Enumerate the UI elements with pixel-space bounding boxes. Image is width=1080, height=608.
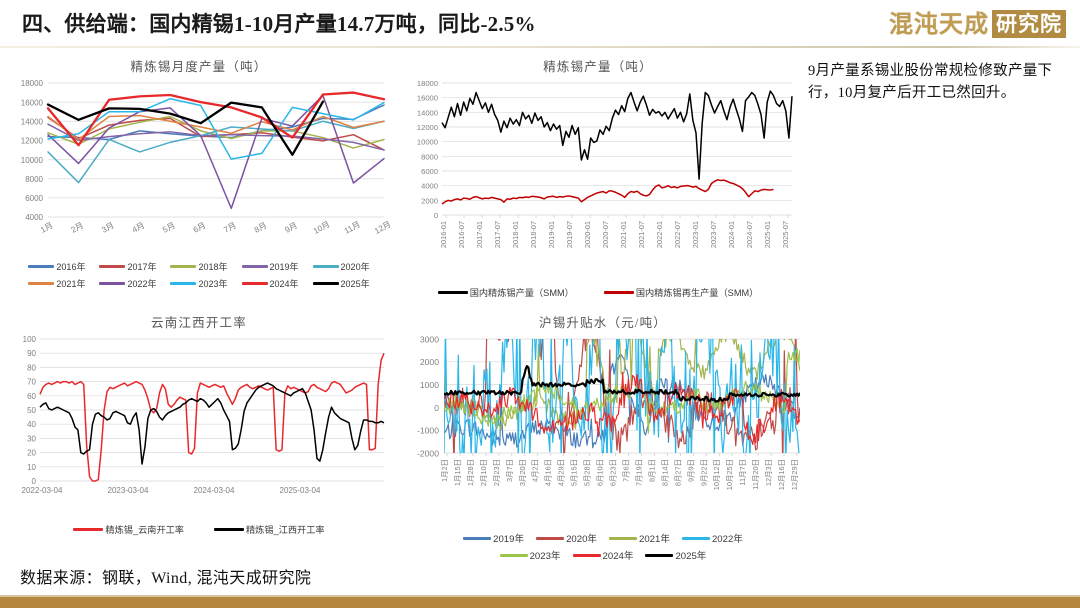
svg-text:70: 70 <box>27 378 36 387</box>
legend-label: 2023年 <box>530 548 561 562</box>
svg-text:10月25日: 10月25日 <box>725 459 734 490</box>
svg-text:12月: 12月 <box>373 220 390 236</box>
svg-text:10000: 10000 <box>417 138 438 147</box>
legend-label: 2022年 <box>712 531 743 545</box>
legend-item[interactable]: 国内精炼锡再生产量（SMM） <box>604 285 759 299</box>
svg-text:2018-07: 2018-07 <box>529 221 538 248</box>
svg-text:16000: 16000 <box>21 98 44 107</box>
svg-text:18000: 18000 <box>417 79 438 88</box>
svg-text:2019-07: 2019-07 <box>565 221 574 248</box>
chart-plot-area: -2000-100001000200030001月2日1月15日1月28日2月1… <box>398 331 808 529</box>
commentary-note: 9月产量系锡业股份常规检修致产量下行，10月复产后开工已然回升。 <box>808 60 1066 105</box>
svg-text:2019-01: 2019-01 <box>547 221 556 248</box>
legend-swatch-icon <box>313 282 339 285</box>
svg-text:2021-01: 2021-01 <box>619 221 628 248</box>
svg-text:2016-07: 2016-07 <box>457 221 466 248</box>
legend-label: 2025年 <box>675 548 706 562</box>
svg-text:2017-07: 2017-07 <box>493 221 502 248</box>
svg-text:2000: 2000 <box>421 196 438 205</box>
legend-label: 2019年 <box>493 531 524 545</box>
legend-swatch-icon <box>500 554 528 557</box>
svg-text:10: 10 <box>27 463 36 472</box>
legend-item[interactable]: 精炼锡_云南开工率 <box>73 522 184 536</box>
svg-text:10月: 10月 <box>312 220 331 236</box>
legend-swatch-icon <box>573 554 601 557</box>
legend-item[interactable]: 2025年 <box>313 277 370 290</box>
svg-text:1月28日: 1月28日 <box>466 459 475 486</box>
svg-text:2月: 2月 <box>70 221 85 235</box>
svg-text:12000: 12000 <box>21 137 44 146</box>
legend-swatch-icon <box>170 282 196 285</box>
legend-item[interactable]: 2019年 <box>242 260 299 273</box>
svg-text:7月19日: 7月19日 <box>634 459 643 486</box>
legend-label: 2024年 <box>270 277 299 290</box>
svg-text:3月7日: 3月7日 <box>505 459 514 482</box>
svg-text:2023-01: 2023-01 <box>691 221 700 248</box>
svg-text:18000: 18000 <box>21 79 44 88</box>
legend-item[interactable]: 2020年 <box>313 260 370 273</box>
svg-text:9月: 9月 <box>283 221 298 235</box>
chart-panel-monthly-output: 精炼锡月度产量（吨） 40006000800010000120001400016… <box>8 56 390 290</box>
legend-item[interactable]: 2022年 <box>99 277 156 290</box>
svg-text:2025-03-04: 2025-03-04 <box>280 486 321 495</box>
svg-text:5月: 5月 <box>161 221 176 235</box>
chart-title: 精炼锡月度产量（吨） <box>8 56 390 75</box>
svg-text:8月: 8月 <box>253 221 268 235</box>
legend-item[interactable]: 国内精炼锡产量（SMM） <box>438 285 574 299</box>
svg-text:7月: 7月 <box>222 221 237 235</box>
svg-text:2016-01: 2016-01 <box>439 221 448 248</box>
svg-text:2月10日: 2月10日 <box>479 459 488 486</box>
svg-text:12月29日: 12月29日 <box>790 459 799 490</box>
svg-text:2024-03-04: 2024-03-04 <box>194 486 235 495</box>
svg-text:100: 100 <box>23 335 37 344</box>
legend-swatch-icon <box>536 537 564 540</box>
premium-discount-svg: -2000-100001000200030001月2日1月15日1月28日2月1… <box>398 331 808 529</box>
legend-label: 精炼锡_云南开工率 <box>105 522 184 536</box>
legend-item[interactable]: 2017年 <box>99 260 156 273</box>
chart-legend: 2016年2017年2018年2019年2020年2021年2022年2023年… <box>8 260 390 290</box>
legend-label: 2019年 <box>270 260 299 273</box>
svg-text:2024-07: 2024-07 <box>745 221 754 248</box>
svg-text:-2000: -2000 <box>417 448 439 458</box>
logo-wordmark: 混沌天成 <box>889 12 989 36</box>
svg-text:16000: 16000 <box>417 94 438 103</box>
svg-text:7月6日: 7月6日 <box>621 459 630 482</box>
chart-plot-area: 40006000800010000120001400016000180001月2… <box>8 75 390 255</box>
svg-text:4月29日: 4月29日 <box>557 459 566 486</box>
svg-text:0: 0 <box>434 211 438 220</box>
svg-text:8月1日: 8月1日 <box>647 459 656 482</box>
legend-label: 2018年 <box>198 260 227 273</box>
legend-swatch-icon <box>242 265 268 268</box>
legend-swatch-icon <box>99 265 125 268</box>
svg-text:8000: 8000 <box>25 175 43 184</box>
legend-label: 2020年 <box>566 531 597 545</box>
svg-text:2023-07: 2023-07 <box>709 221 718 248</box>
chart-legend: 精炼锡_云南开工率精炼锡_江西开工率 <box>8 522 390 536</box>
svg-text:2017-01: 2017-01 <box>475 221 484 248</box>
chart-title: 沪锡升贴水（元/吨） <box>398 312 808 331</box>
legend-swatch-icon <box>609 537 637 540</box>
svg-text:2020-07: 2020-07 <box>601 221 610 248</box>
svg-text:2020-01: 2020-01 <box>583 221 592 248</box>
svg-text:9月9日: 9月9日 <box>686 459 695 482</box>
svg-text:3月: 3月 <box>100 221 115 235</box>
svg-text:90: 90 <box>27 349 36 358</box>
page-title: 四、供给端：国内精锡1-10月产量14.7万吨，同比-2.5% <box>22 8 536 38</box>
legend-item[interactable]: 2024年 <box>242 277 299 290</box>
legend-swatch-icon <box>170 265 196 268</box>
legend-item[interactable]: 2016年 <box>28 260 85 273</box>
svg-text:4月: 4月 <box>131 221 146 235</box>
monthly-output-svg: 40006000800010000120001400016000180001月2… <box>8 75 390 255</box>
svg-text:6000: 6000 <box>25 194 43 203</box>
legend-item[interactable]: 2025年 <box>645 548 706 562</box>
svg-text:2023-03-04: 2023-03-04 <box>108 486 149 495</box>
svg-text:5月15日: 5月15日 <box>570 459 579 486</box>
svg-text:11月20日: 11月20日 <box>751 459 760 490</box>
chart-panel-premium-discount: 沪锡升贴水（元/吨） -2000-100001000200030001月2日1月… <box>398 312 808 562</box>
chart-panel-refined-output: 精炼锡产量（吨） 0200040006000800010000120001400… <box>398 56 798 299</box>
legend-label: 2025年 <box>341 277 370 290</box>
svg-text:2024-01: 2024-01 <box>727 221 736 248</box>
legend-label: 2017年 <box>127 260 156 273</box>
svg-text:2021-07: 2021-07 <box>637 221 646 248</box>
svg-text:11月: 11月 <box>343 220 362 236</box>
legend-item[interactable]: 2018年 <box>170 260 227 273</box>
legend-swatch-icon <box>438 291 468 294</box>
svg-text:8月27日: 8月27日 <box>673 459 682 486</box>
chart-panel-operating-rate: 云南江西开工率 01020304050607080901002022-03-04… <box>8 312 390 536</box>
svg-text:3000: 3000 <box>420 334 439 344</box>
svg-text:0: 0 <box>32 477 37 486</box>
slide-header: 四、供给端：国内精锡1-10月产量14.7万吨，同比-2.5% 混沌天成 研究院 <box>0 0 1080 47</box>
svg-text:40: 40 <box>27 420 36 429</box>
legend-item[interactable]: 2022年 <box>682 531 743 545</box>
legend-item[interactable]: 2023年 <box>170 277 227 290</box>
legend-label: 2021年 <box>56 277 85 290</box>
legend-swatch-icon <box>73 528 103 531</box>
legend-swatch-icon <box>604 291 634 294</box>
legend-item[interactable]: 2023年 <box>500 548 561 562</box>
svg-text:30: 30 <box>27 434 36 443</box>
legend-label: 国内精炼锡产量（SMM） <box>470 285 574 299</box>
slide-root: 四、供给端：国内精锡1-10月产量14.7万吨，同比-2.5% 混沌天成 研究院… <box>0 0 1080 608</box>
legend-label: 2020年 <box>341 260 370 273</box>
chart-title: 云南江西开工率 <box>8 312 390 331</box>
svg-text:4000: 4000 <box>25 213 43 222</box>
svg-text:3月20日: 3月20日 <box>518 459 527 486</box>
svg-text:6月10日: 6月10日 <box>596 459 605 486</box>
svg-text:5月28日: 5月28日 <box>583 459 592 486</box>
legend-label: 2021年 <box>639 531 670 545</box>
logo-badge: 研究院 <box>992 10 1066 38</box>
svg-text:2022-03-04: 2022-03-04 <box>22 486 63 495</box>
svg-text:1月: 1月 <box>39 221 54 235</box>
legend-label: 2023年 <box>198 277 227 290</box>
svg-text:1月2日: 1月2日 <box>440 459 449 482</box>
legend-swatch-icon <box>313 265 339 268</box>
chart-plot-area: 0200040006000800010000120001400016000180… <box>398 75 798 283</box>
svg-text:6月: 6月 <box>192 221 207 235</box>
legend-swatch-icon <box>242 282 268 285</box>
svg-text:4月2日: 4月2日 <box>531 459 540 482</box>
data-source-label: 数据来源：钢联，Wind, 混沌天成研究院 <box>20 564 311 588</box>
svg-text:12月3日: 12月3日 <box>764 459 773 486</box>
svg-text:10000: 10000 <box>21 156 44 165</box>
svg-text:1000: 1000 <box>420 380 439 390</box>
legend-label: 2016年 <box>56 260 85 273</box>
legend-item[interactable]: 2019年 <box>463 531 524 545</box>
svg-text:2022-01: 2022-01 <box>655 221 664 248</box>
svg-text:9月22日: 9月22日 <box>699 459 708 486</box>
svg-text:6月23日: 6月23日 <box>609 459 618 486</box>
legend-swatch-icon <box>28 282 54 285</box>
svg-text:4月16日: 4月16日 <box>544 459 553 486</box>
legend-item[interactable]: 2021年 <box>28 277 85 290</box>
legend-label: 2022年 <box>127 277 156 290</box>
operating-rate-svg: 01020304050607080901002022-03-042023-03-… <box>8 331 390 521</box>
svg-text:14000: 14000 <box>417 108 438 117</box>
chart-plot-area: 01020304050607080901002022-03-042023-03-… <box>8 331 390 521</box>
legend-label: 精炼锡_江西开工率 <box>246 522 325 536</box>
chart-legend: 2019年2020年2021年2022年2023年2024年2025年 <box>398 531 808 562</box>
svg-text:14000: 14000 <box>21 117 44 126</box>
svg-text:8000: 8000 <box>421 152 438 161</box>
footer-bar <box>0 597 1080 608</box>
legend-item[interactable]: 精炼锡_江西开工率 <box>214 522 325 536</box>
svg-text:2018-01: 2018-01 <box>511 221 520 248</box>
svg-text:12000: 12000 <box>417 123 438 132</box>
legend-item[interactable]: 2021年 <box>609 531 670 545</box>
refined-output-svg: 0200040006000800010000120001400016000180… <box>398 75 798 283</box>
svg-text:50: 50 <box>27 406 36 415</box>
legend-label: 国内精炼锡再生产量（SMM） <box>636 285 759 299</box>
svg-text:6000: 6000 <box>421 167 438 176</box>
chart-title: 精炼锡产量（吨） <box>398 56 798 75</box>
svg-text:2022-07: 2022-07 <box>673 221 682 248</box>
svg-text:2000: 2000 <box>420 357 439 367</box>
legend-item[interactable]: 2024年 <box>573 548 634 562</box>
legend-swatch-icon <box>28 265 54 268</box>
svg-text:8月14日: 8月14日 <box>660 459 669 486</box>
legend-label: 2024年 <box>603 548 634 562</box>
svg-text:2025-07: 2025-07 <box>781 221 790 248</box>
legend-swatch-icon <box>99 282 125 285</box>
legend-swatch-icon <box>645 554 673 557</box>
svg-text:4000: 4000 <box>421 182 438 191</box>
svg-text:-1000: -1000 <box>417 426 439 436</box>
svg-text:12月16日: 12月16日 <box>777 459 786 490</box>
svg-text:2025-01: 2025-01 <box>763 221 772 248</box>
legend-swatch-icon <box>682 537 710 540</box>
svg-text:1月15日: 1月15日 <box>453 459 462 486</box>
svg-text:80: 80 <box>27 363 36 372</box>
header-divider <box>0 46 1080 48</box>
legend-swatch-icon <box>214 528 244 531</box>
legend-item[interactable]: 2020年 <box>536 531 597 545</box>
svg-text:20: 20 <box>27 449 36 458</box>
svg-text:11月7日: 11月7日 <box>738 459 747 486</box>
svg-text:10月12日: 10月12日 <box>712 459 721 490</box>
svg-text:0: 0 <box>434 403 439 413</box>
legend-swatch-icon <box>463 537 491 540</box>
svg-text:60: 60 <box>27 392 36 401</box>
chart-legend: 国内精炼锡产量（SMM）国内精炼锡再生产量（SMM） <box>398 285 798 299</box>
brand-logo: 混沌天成 研究院 <box>889 8 1066 40</box>
svg-text:2月23日: 2月23日 <box>492 459 501 486</box>
